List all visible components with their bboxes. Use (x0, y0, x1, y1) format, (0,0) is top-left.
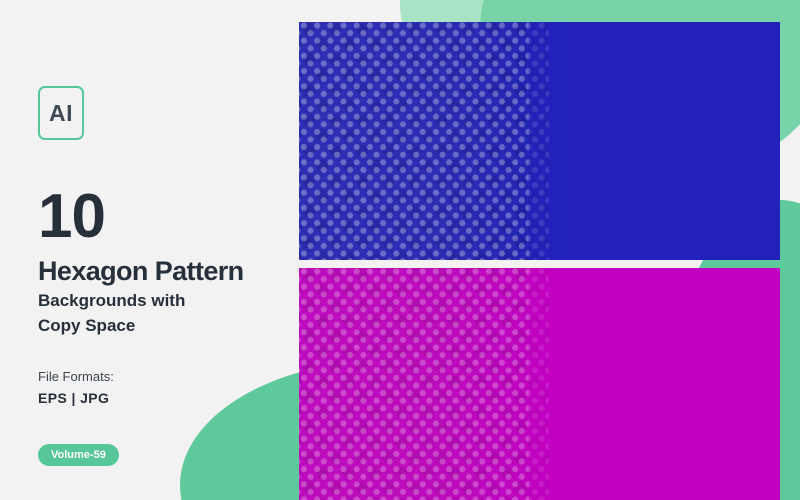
page-subtitle-line2: Copy Space (38, 315, 288, 336)
poster-canvas: AI 10 Hexagon Pattern Backgrounds with C… (0, 0, 800, 500)
file-formats-label: File Formats: (38, 369, 288, 384)
page-title: Hexagon Pattern (38, 256, 288, 286)
blue-hexagon-preview (299, 22, 780, 260)
magenta-hexagon-preview (299, 268, 780, 500)
adobe-illustrator-icon-label: AI (49, 100, 73, 127)
adobe-illustrator-icon: AI (38, 86, 84, 140)
volume-badge: Volume-59 (38, 444, 119, 466)
item-count: 10 (38, 188, 288, 246)
page-subtitle-line1: Backgrounds with (38, 290, 288, 311)
file-formats-value: EPS | JPG (38, 390, 288, 406)
blue-hexagon-pattern (299, 22, 780, 260)
magenta-hexagon-pattern (299, 268, 780, 500)
info-column: AI 10 Hexagon Pattern Backgrounds with C… (38, 86, 288, 466)
